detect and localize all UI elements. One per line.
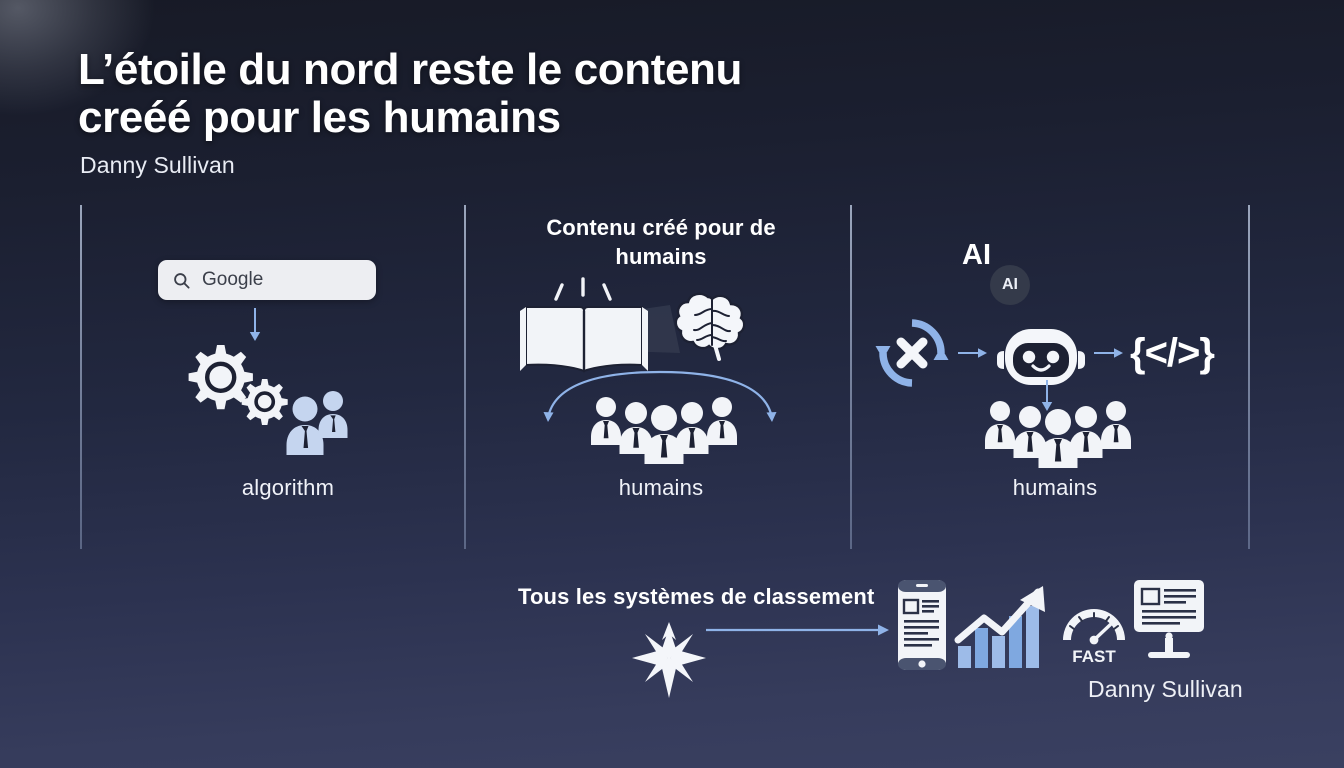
column-divider-2 <box>464 205 466 549</box>
search-icon <box>172 271 191 290</box>
arrow-right-long-icon <box>706 622 890 638</box>
arrow-right-icon-2 <box>1094 346 1124 360</box>
bottom-title: Tous les systèmes de classement <box>518 584 874 610</box>
people-pair-icon <box>287 391 348 455</box>
slide-canvas: L’étoile du nord reste le contenu creéé … <box>0 0 1344 768</box>
search-input-value: Google <box>202 269 263 291</box>
refresh-blocked-icon <box>872 314 952 392</box>
desktop-monitor-icon <box>1134 580 1204 658</box>
humains-label-3: humains <box>962 475 1148 501</box>
column-3-heading: AI <box>962 239 991 272</box>
google-search-box[interactable]: Google <box>158 260 376 300</box>
people-group-icon-3 <box>982 397 1134 467</box>
speedometer-icon: FAST <box>1063 609 1125 666</box>
column-2-heading: Contenu créé pour de humains <box>498 213 824 271</box>
arrow-right-icon-1 <box>958 346 988 360</box>
algorithm-illustration <box>170 335 370 465</box>
column-divider-4 <box>1248 205 1250 549</box>
growth-chart-icon <box>958 586 1045 668</box>
mobile-phone-icon <box>898 580 946 670</box>
column-divider-1 <box>80 205 82 549</box>
algorithm-label: algorithm <box>198 475 378 501</box>
page-title: L’étoile du nord reste le contenu creéé … <box>78 46 838 141</box>
sparkle-icon <box>556 279 610 299</box>
people-group-icon <box>588 393 740 463</box>
ranking-results-illustration: FAST <box>896 578 1206 674</box>
compass-star-icon <box>628 612 710 700</box>
speed-label: FAST <box>1072 647 1116 666</box>
gear-small-icon <box>242 379 288 425</box>
open-book-icon <box>520 307 648 371</box>
code-symbol: {</>} <box>1130 331 1214 376</box>
column-divider-3 <box>850 205 852 549</box>
bottom-byline: Danny Sullivan <box>1088 676 1243 703</box>
ai-badge: AI <box>990 265 1030 305</box>
byline: Danny Sullivan <box>80 152 235 179</box>
humains-label-2: humains <box>571 475 751 501</box>
brain-icon <box>676 294 744 359</box>
